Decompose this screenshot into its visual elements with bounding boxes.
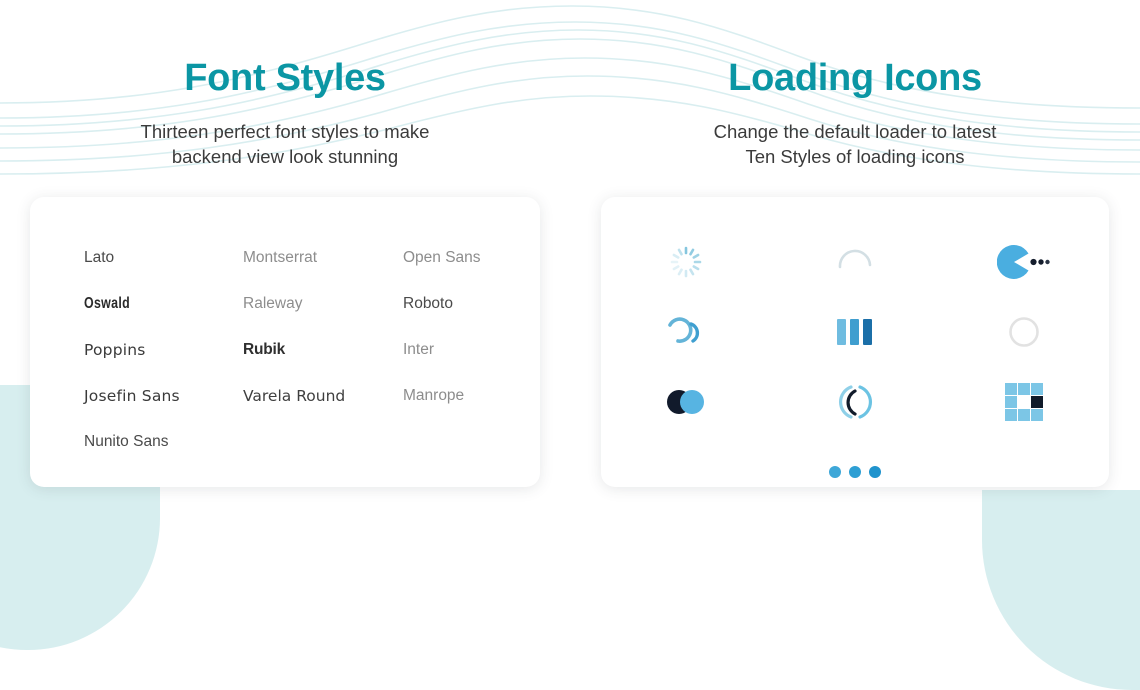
two-circles-icon — [663, 387, 709, 417]
font-item-rubik[interactable]: Rubik — [243, 341, 403, 359]
page-title-loading-icons: Loading Icons — [728, 58, 982, 100]
loader-two-circles[interactable] — [656, 372, 716, 432]
font-item-open-sans[interactable]: Open Sans — [403, 249, 540, 267]
loading-icons-grid — [601, 227, 1109, 507]
panel-subtitle-loading-icons: Change the default loader to latest Ten … — [714, 119, 997, 170]
font-item-poppins[interactable]: Poppins — [84, 341, 243, 359]
circle-outline-icon — [1007, 315, 1041, 349]
font-styles-card: Lato Montserrat Open Sans Oswald Raleway… — [30, 197, 540, 487]
font-item-nunito-sans[interactable]: Nunito Sans — [84, 433, 243, 451]
loader-sunburst-spinner[interactable] — [656, 232, 716, 292]
font-item-montserrat[interactable]: Montserrat — [243, 249, 403, 267]
font-styles-grid: Lato Montserrat Open Sans Oswald Raleway… — [84, 235, 540, 465]
arc-ring-icon — [834, 241, 876, 283]
sunburst-spinner-icon — [669, 245, 703, 279]
block-grid-icon — [1005, 383, 1043, 421]
loader-double-crescent[interactable] — [656, 302, 716, 362]
font-item-roboto[interactable]: Roboto — [403, 295, 540, 313]
font-item-lato[interactable]: Lato — [84, 249, 243, 267]
panel-font-styles: Font Styles Thirteen perfect font styles… — [0, 58, 570, 487]
facing-arcs-icon — [835, 383, 875, 421]
pacman-icon — [997, 245, 1051, 279]
font-item-manrope[interactable]: Manrope — [403, 387, 540, 405]
decorative-blob-right — [982, 490, 1140, 690]
panels-container: Font Styles Thirteen perfect font styles… — [0, 0, 1140, 487]
font-item-raleway[interactable]: Raleway — [243, 295, 403, 313]
three-bars-icon — [834, 315, 876, 349]
page-title-font-styles: Font Styles — [184, 58, 386, 100]
loader-pacman[interactable] — [994, 232, 1054, 292]
panel-loading-icons: Loading Icons Change the default loader … — [570, 58, 1140, 487]
font-item-varela-round[interactable]: Varela Round — [243, 387, 403, 405]
loading-icons-card — [601, 197, 1109, 487]
font-item-josefin-sans[interactable]: Josefin Sans — [84, 387, 243, 405]
font-item-oswald[interactable]: Oswald — [84, 295, 211, 313]
loader-arc-ring[interactable] — [825, 232, 885, 292]
three-dots-icon — [827, 463, 883, 481]
loader-facing-arcs[interactable] — [825, 372, 885, 432]
double-crescent-icon — [664, 315, 708, 349]
loader-circle-outline[interactable] — [994, 302, 1054, 362]
font-item-inter[interactable]: Inter — [403, 341, 540, 359]
loader-block-grid[interactable] — [994, 372, 1054, 432]
loader-three-dots[interactable] — [825, 442, 885, 502]
panel-subtitle-font-styles: Thirteen perfect font styles to make bac… — [141, 119, 430, 170]
loader-three-bars[interactable] — [825, 302, 885, 362]
